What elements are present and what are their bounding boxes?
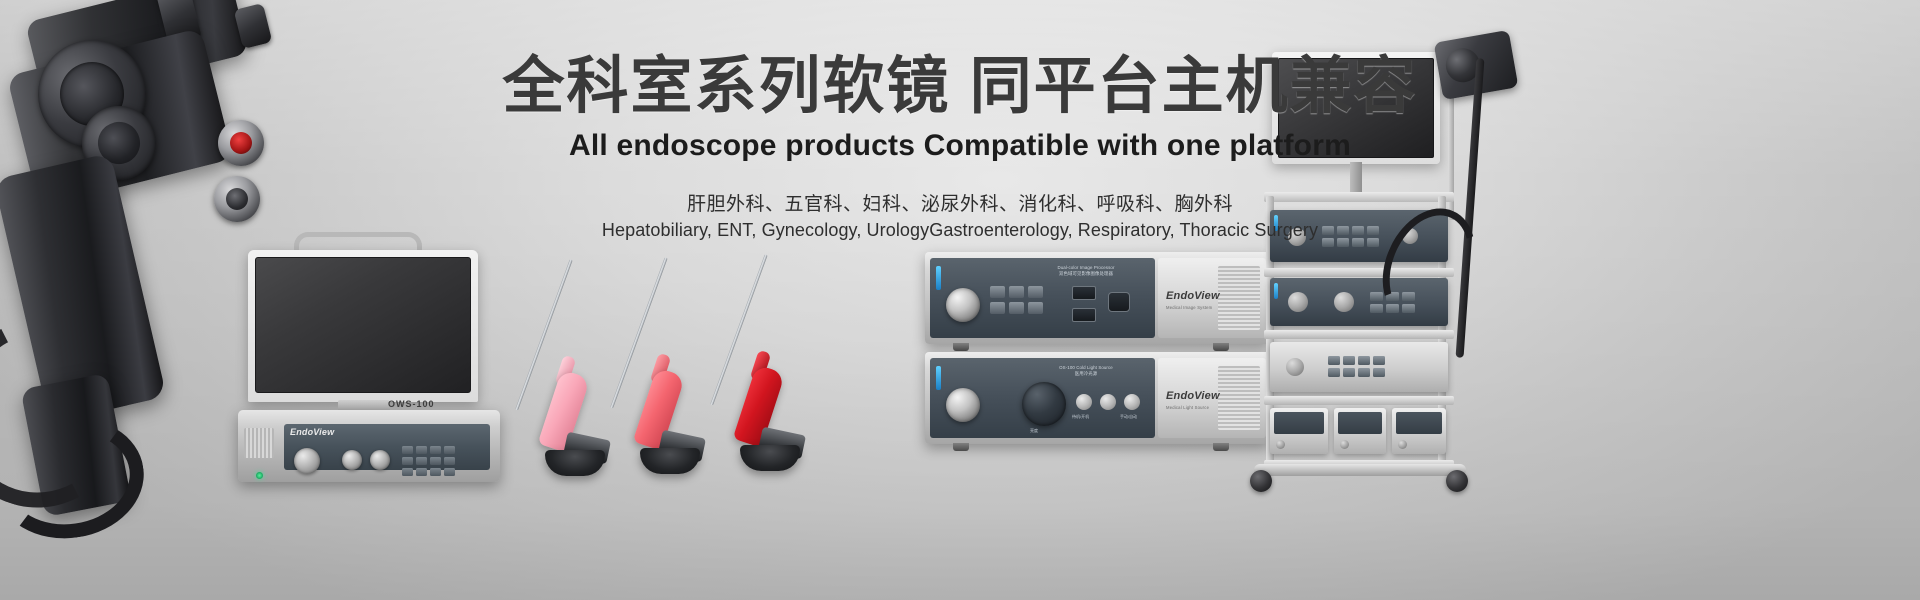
workstation-main-dial <box>294 448 320 474</box>
departments-english: Hepatobiliary, ENT, Gynecology, UrologyG… <box>0 220 1920 241</box>
cart-unit-insufflator <box>1270 342 1448 392</box>
image-processor-brand-label: EndoView <box>1166 290 1220 302</box>
light-source-button-3 <box>1124 394 1140 410</box>
workstation-ows-100: EndoView OWS-100 <box>238 250 508 485</box>
light-source-button-label-2: 手动/自动 <box>1120 414 1137 420</box>
cart-shelf-4 <box>1264 396 1454 405</box>
processor-foot <box>953 343 969 351</box>
image-processor-usb-port <box>1108 292 1130 312</box>
light-source-title: OS-100 Cold Light Source 医用冷光源 <box>1026 365 1146 378</box>
cart-accessory-b <box>1334 408 1386 454</box>
workstation-screen <box>255 257 471 393</box>
accent-stripe <box>936 366 941 390</box>
light-source-vents <box>1218 366 1260 430</box>
promo-banner: 全科室系列软镜 同平台主机兼容 All endoscope products C… <box>0 0 1920 600</box>
workstation-dial-3 <box>370 450 390 470</box>
light-source-sub-label: Medical Light Source <box>1166 405 1209 410</box>
workstation-brand-label: EndoView <box>290 427 334 437</box>
light-source-title-cn: 医用冷光源 <box>1026 371 1146 377</box>
cart-shelf-3 <box>1264 330 1454 339</box>
light-source-button-2 <box>1100 394 1116 410</box>
image-processor-vents <box>1218 266 1260 330</box>
processor-stack: Dual-color Image Processor 双色域可见影像图像处理器 … <box>925 252 1270 452</box>
workstation-keypad <box>402 446 455 476</box>
page-title: 全科室系列软镜 同平台主机兼容 <box>0 52 1920 121</box>
processor-foot <box>1213 343 1229 351</box>
workstation-dial-2 <box>342 450 362 470</box>
image-processor-side-panel: EndoView Medical Image System <box>1158 258 1266 338</box>
instrument-stand <box>545 450 605 476</box>
processor-foot <box>953 443 969 451</box>
image-processor-knob <box>946 288 980 322</box>
cart-caster-left <box>1250 470 1272 492</box>
image-processor-front-panel: Dual-color Image Processor 双色域可见影像图像处理器 <box>930 258 1155 338</box>
workstation-monitor <box>248 250 478 402</box>
light-source-front-panel: OS-100 Cold Light Source 医用冷光源 亮度 待机/开机 … <box>930 358 1155 438</box>
cold-light-source-unit: OS-100 Cold Light Source 医用冷光源 亮度 待机/开机 … <box>925 352 1270 444</box>
page-subtitle: All endoscope products Compatible with o… <box>0 129 1920 163</box>
light-source-button-1 <box>1076 394 1092 410</box>
cart-caster-right <box>1446 470 1468 492</box>
cart-accessory-a <box>1270 408 1328 454</box>
workstation-power-led <box>256 472 263 479</box>
workstation-base: EndoView OWS-100 <box>238 410 500 482</box>
image-processor-sub-label: Medical Image System <box>1166 305 1212 310</box>
banner-text-block: 全科室系列软镜 同平台主机兼容 All endoscope products C… <box>0 52 1920 241</box>
image-processor-port-2 <box>1072 308 1096 322</box>
light-source-brightness-knob <box>1022 382 1066 426</box>
light-source-brand-label: EndoView <box>1166 390 1220 402</box>
workstation-model-label: OWS-100 <box>388 399 435 409</box>
instrument-red <box>700 245 830 475</box>
processor-foot <box>1213 443 1229 451</box>
cart-base <box>1254 464 1466 476</box>
image-processor-unit: Dual-color Image Processor 双色域可见影像图像处理器 … <box>925 252 1270 344</box>
light-source-knob-label-brightness: 亮度 <box>1030 428 1038 434</box>
image-processor-title-cn: 双色域可见影像图像处理器 <box>1026 271 1146 277</box>
instrument-stand <box>640 448 700 474</box>
image-processor-keypad <box>990 286 1043 314</box>
light-source-scope-port <box>946 388 980 422</box>
accent-stripe <box>936 266 941 290</box>
image-processor-port-1 <box>1072 286 1096 300</box>
light-source-side-panel: EndoView Medical Light Source <box>1158 358 1266 438</box>
departments-chinese: 肝胆外科、五官科、妇科、泌尿外科、消化科、呼吸科、胸外科 <box>0 189 1920 216</box>
cart-accessory-c <box>1392 408 1446 454</box>
workstation-vent <box>244 428 274 458</box>
image-processor-title: Dual-color Image Processor 双色域可见影像图像处理器 <box>1026 265 1146 278</box>
workstation-control-panel: EndoView <box>284 424 490 470</box>
instrument-stand <box>740 445 800 471</box>
light-source-button-label-1: 待机/开机 <box>1072 414 1089 420</box>
